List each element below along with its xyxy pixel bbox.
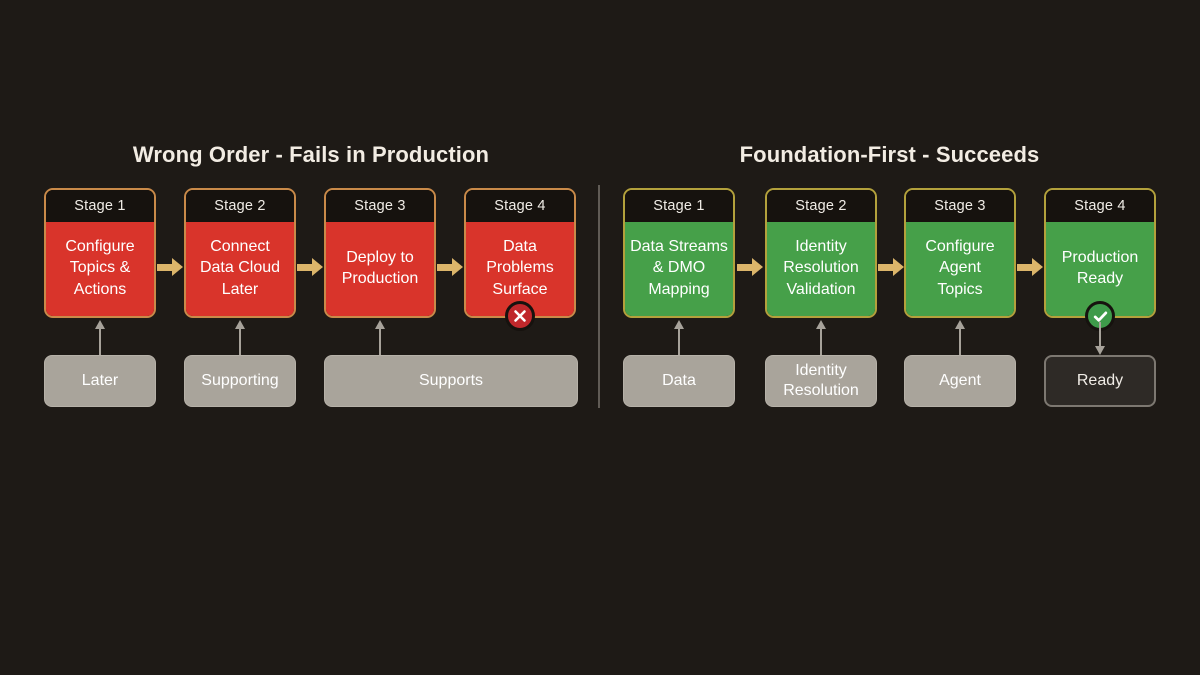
flow-arrow-left-2 xyxy=(297,258,323,276)
connector-right-4 xyxy=(1094,322,1106,355)
support-box-left-3[interactable]: Supports xyxy=(324,355,578,407)
stage-header: Stage 3 xyxy=(326,190,434,222)
panel-title-foundation-first: Foundation-First - Succeeds xyxy=(623,142,1156,168)
stage-header: Stage 4 xyxy=(1046,190,1154,222)
diagram-canvas: Wrong Order - Fails in Production Founda… xyxy=(0,0,1200,675)
flow-arrow-left-3 xyxy=(437,258,463,276)
connector-left-1 xyxy=(94,320,106,355)
panel-divider xyxy=(598,185,600,408)
flow-arrow-right-2 xyxy=(878,258,904,276)
stage-card-right-2[interactable]: Stage 2 Identity Resolution Validation xyxy=(765,188,877,318)
stage-card-right-4[interactable]: Stage 4 Production Ready xyxy=(1044,188,1156,318)
support-box-left-2[interactable]: Supporting xyxy=(184,355,296,407)
stage-label: Data Streams & DMO Mapping xyxy=(625,222,733,316)
stage-label: Identity Resolution Validation xyxy=(767,222,875,316)
stage-header: Stage 2 xyxy=(767,190,875,222)
connector-right-1 xyxy=(673,320,685,355)
stage-header: Stage 4 xyxy=(466,190,574,222)
stage-card-left-1[interactable]: Stage 1 Configure Topics & Actions xyxy=(44,188,156,318)
support-box-label: Supports xyxy=(419,371,483,391)
support-box-label: Data xyxy=(662,371,696,391)
stage-card-right-1[interactable]: Stage 1 Data Streams & DMO Mapping xyxy=(623,188,735,318)
support-box-right-3[interactable]: Agent xyxy=(904,355,1016,407)
support-box-label: Agent xyxy=(939,371,981,391)
support-box-left-1[interactable]: Later xyxy=(44,355,156,407)
stage-card-left-3[interactable]: Stage 3 Deploy to Production xyxy=(324,188,436,318)
stage-card-right-3[interactable]: Stage 3 Configure Agent Topics xyxy=(904,188,1016,318)
stage-card-left-2[interactable]: Stage 2 Connect Data Cloud Later xyxy=(184,188,296,318)
connector-right-3 xyxy=(954,320,966,355)
stage-label: Configure Agent Topics xyxy=(906,222,1014,316)
flow-arrow-left-1 xyxy=(157,258,183,276)
support-box-label: Supporting xyxy=(201,371,278,391)
support-box-right-1[interactable]: Data xyxy=(623,355,735,407)
stage-header: Stage 1 xyxy=(46,190,154,222)
flow-arrow-right-3 xyxy=(1017,258,1043,276)
support-box-label: Later xyxy=(82,371,118,391)
stage-label: Deploy to Production xyxy=(326,222,434,316)
connector-right-2 xyxy=(815,320,827,355)
stage-card-left-4[interactable]: Stage 4 Data Problems Surface xyxy=(464,188,576,318)
panel-title-wrong-order: Wrong Order - Fails in Production xyxy=(44,142,578,168)
connector-left-3 xyxy=(374,320,386,355)
stage-label: Connect Data Cloud Later xyxy=(186,222,294,316)
stage-label: Configure Topics & Actions xyxy=(46,222,154,316)
support-box-label: Identity Resolution xyxy=(783,361,859,401)
stage-header: Stage 2 xyxy=(186,190,294,222)
stage-header: Stage 3 xyxy=(906,190,1014,222)
support-box-right-2[interactable]: Identity Resolution xyxy=(765,355,877,407)
support-box-right-4[interactable]: Ready xyxy=(1044,355,1156,407)
flow-arrow-right-1 xyxy=(737,258,763,276)
x-circle-icon xyxy=(505,301,535,331)
support-box-label: Ready xyxy=(1077,371,1123,391)
stage-header: Stage 1 xyxy=(625,190,733,222)
connector-left-2 xyxy=(234,320,246,355)
